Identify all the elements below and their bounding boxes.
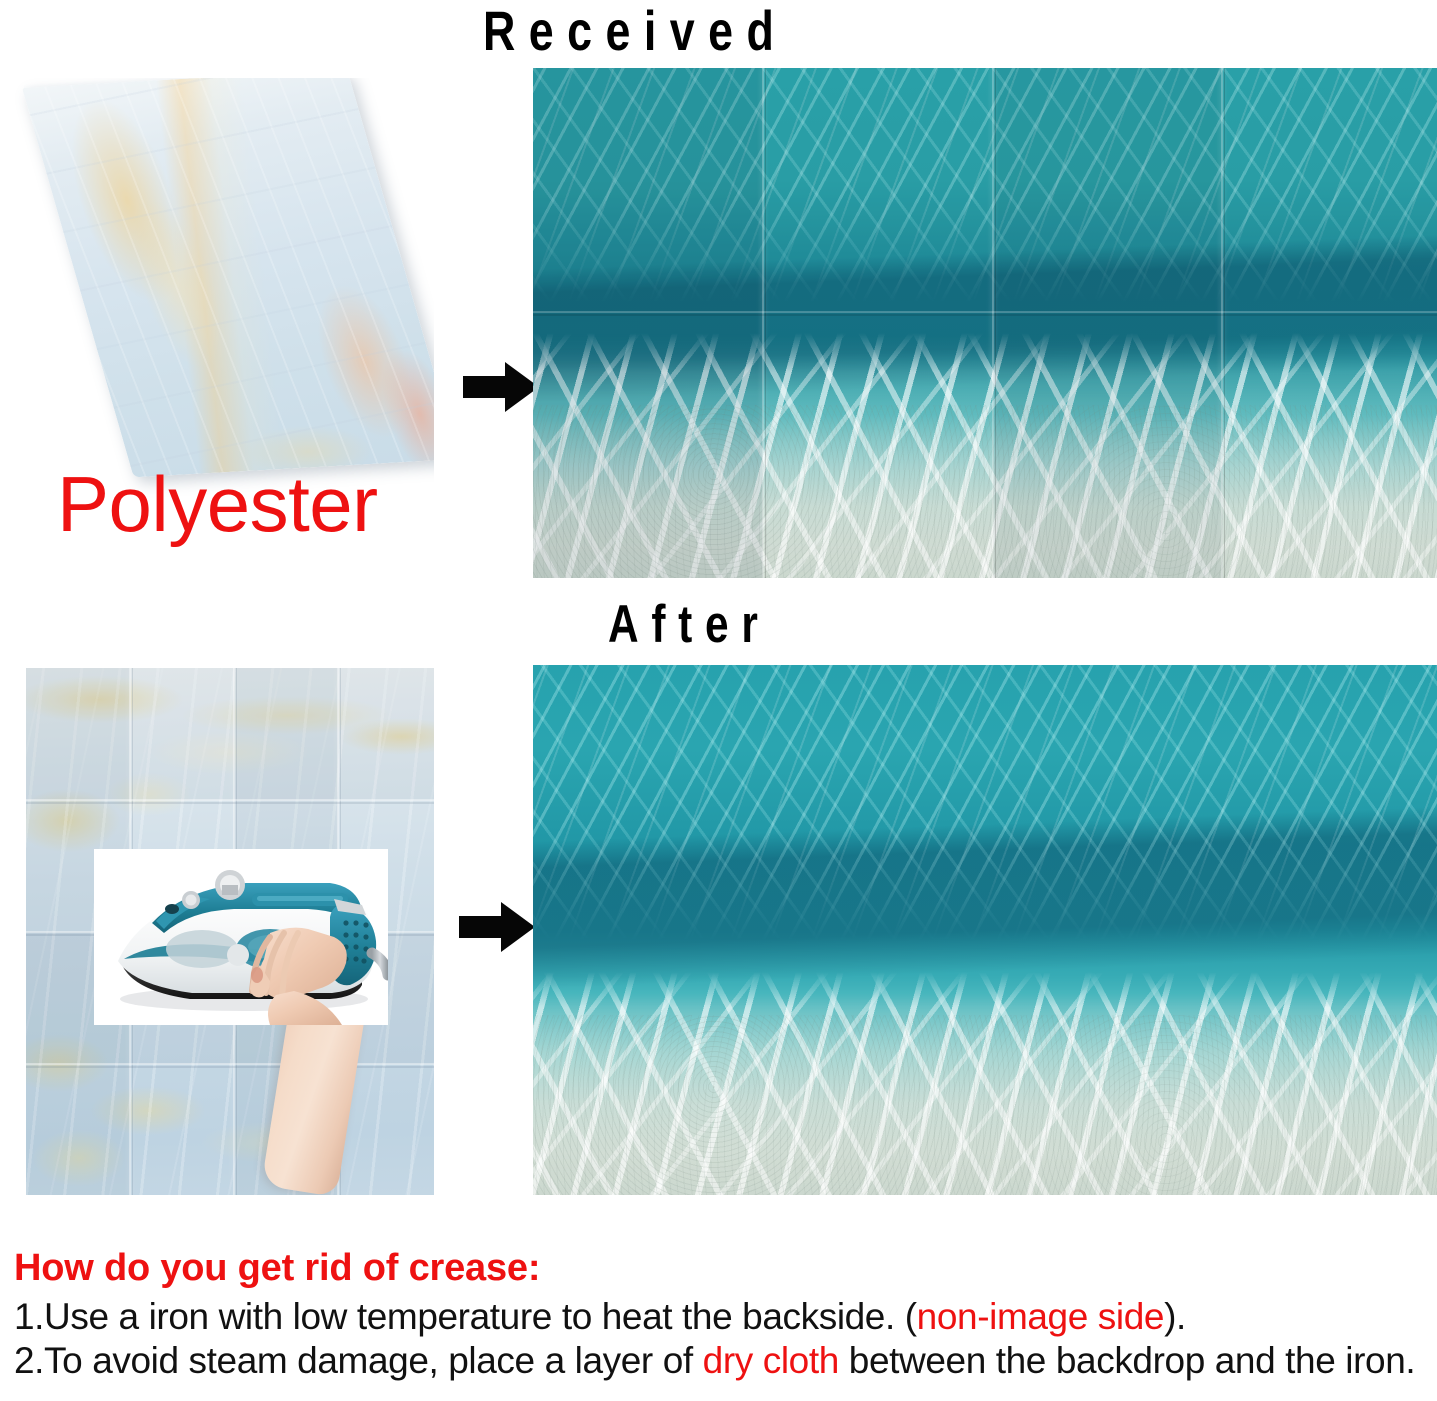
received-backdrop-photo [533, 68, 1437, 578]
after-backdrop-photo [533, 665, 1437, 1195]
instruction-line-2: 2.To avoid steam damage, place a layer o… [14, 1339, 1434, 1383]
arrow-right-icon [457, 898, 537, 956]
iron-inset-photo [94, 849, 388, 1025]
instruction-1-highlight: non-image side [917, 1296, 1164, 1337]
folded-polyester-swatch-photo [14, 78, 434, 498]
steam-iron-icon [94, 849, 388, 1025]
instruction-1-part2: ). [1164, 1296, 1186, 1337]
ironing-backdrop-photo [26, 668, 434, 1195]
swatch-body [22, 78, 434, 477]
water-surface-caustics [533, 68, 1437, 303]
sand-grain-texture [533, 405, 1437, 578]
instruction-2-highlight: dry cloth [703, 1340, 839, 1381]
water-surface-caustics [533, 665, 1437, 941]
instruction-line-1: 1.Use a iron with low temperature to hea… [14, 1295, 1434, 1339]
page-title-after: After [608, 594, 771, 655]
arrow-right-icon [461, 358, 541, 416]
page-title-received: Received [483, 0, 787, 63]
instructions-block: How do you get rid of crease: 1.Use a ir… [14, 1248, 1434, 1382]
sand-grain-texture [533, 1015, 1437, 1195]
instruction-2-part2: between the backdrop and the iron. [839, 1340, 1415, 1381]
instructions-heading: How do you get rid of crease: [14, 1248, 1434, 1289]
instruction-2-part1: 2.To avoid steam damage, place a layer o… [14, 1340, 703, 1381]
instruction-1-part1: 1.Use a iron with low temperature to hea… [14, 1296, 917, 1337]
polyester-material-label: Polyester [57, 459, 378, 550]
